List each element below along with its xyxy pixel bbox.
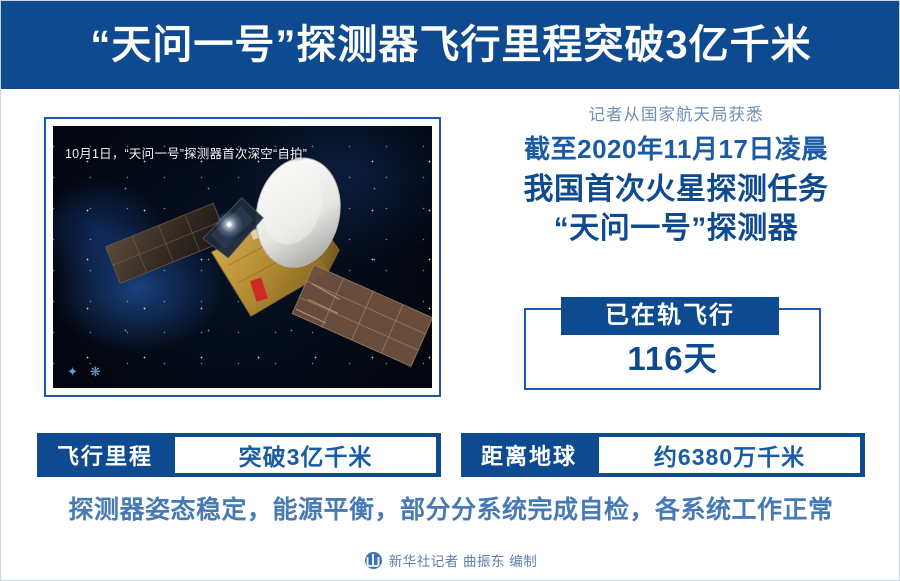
summary-source: 记者从国家航天局获悉 bbox=[471, 105, 881, 126]
photo-watermark-badges: ✦ ❋ bbox=[67, 365, 101, 378]
orbit-days-tab: 已在轨飞行 bbox=[561, 297, 779, 335]
summary-block: 记者从国家航天局获悉 截至2020年11月17日凌晨 我国首次火星探测任务 “天… bbox=[471, 105, 881, 248]
stat-bar-row: 飞行里程 突破3亿千米 距离地球 约6380万千米 bbox=[37, 433, 865, 477]
summary-probe: “天问一号”探测器 bbox=[471, 210, 881, 248]
photo-frame: 10月1日，“天问一号”探测器首次深空“自拍” ✦ ❋ bbox=[44, 117, 441, 397]
photo-caption: 10月1日，“天问一号”探测器首次深空“自拍” bbox=[65, 143, 307, 162]
poster-header: “天问一号”探测器飞行里程突破3亿千米 bbox=[1, 1, 900, 89]
summary-mission: 我国首次火星探测任务 bbox=[471, 171, 881, 209]
footer-credit-text: 新华社记者 曲振东 编制 bbox=[389, 550, 538, 570]
spacecraft-illustration bbox=[53, 126, 432, 388]
stat-earth-distance: 距离地球 约6380万千米 bbox=[461, 433, 865, 477]
status-line: 探测器姿态稳定，能源平衡，部分分系统完成自检，各系统工作正常 bbox=[1, 498, 900, 523]
mission-badge-icon: ❋ bbox=[90, 365, 101, 378]
stat-flight-distance: 飞行里程 突破3亿千米 bbox=[37, 433, 441, 477]
stat-value: 突破3亿千米 bbox=[175, 437, 436, 473]
xinhua-logo-icon bbox=[365, 552, 382, 569]
cnsa-badge-icon: ✦ bbox=[67, 365, 78, 378]
page-title: “天问一号”探测器飞行里程突破3亿千米 bbox=[90, 25, 811, 65]
orbit-days-value: 116天 bbox=[524, 342, 821, 375]
stat-label: 飞行里程 bbox=[37, 433, 173, 477]
infographic-poster: “天问一号”探测器飞行里程突破3亿千米 bbox=[0, 0, 900, 581]
stat-label: 距离地球 bbox=[461, 433, 597, 477]
footer-credit: 新华社记者 曲振东 编制 bbox=[1, 550, 900, 570]
stat-value: 约6380万千米 bbox=[599, 437, 860, 473]
summary-date: 截至2020年11月17日凌晨 bbox=[471, 133, 881, 166]
photo-image: 10月1日，“天问一号”探测器首次深空“自拍” ✦ ❋ bbox=[53, 126, 432, 388]
orbit-days-label: 已在轨飞行 bbox=[605, 304, 735, 328]
